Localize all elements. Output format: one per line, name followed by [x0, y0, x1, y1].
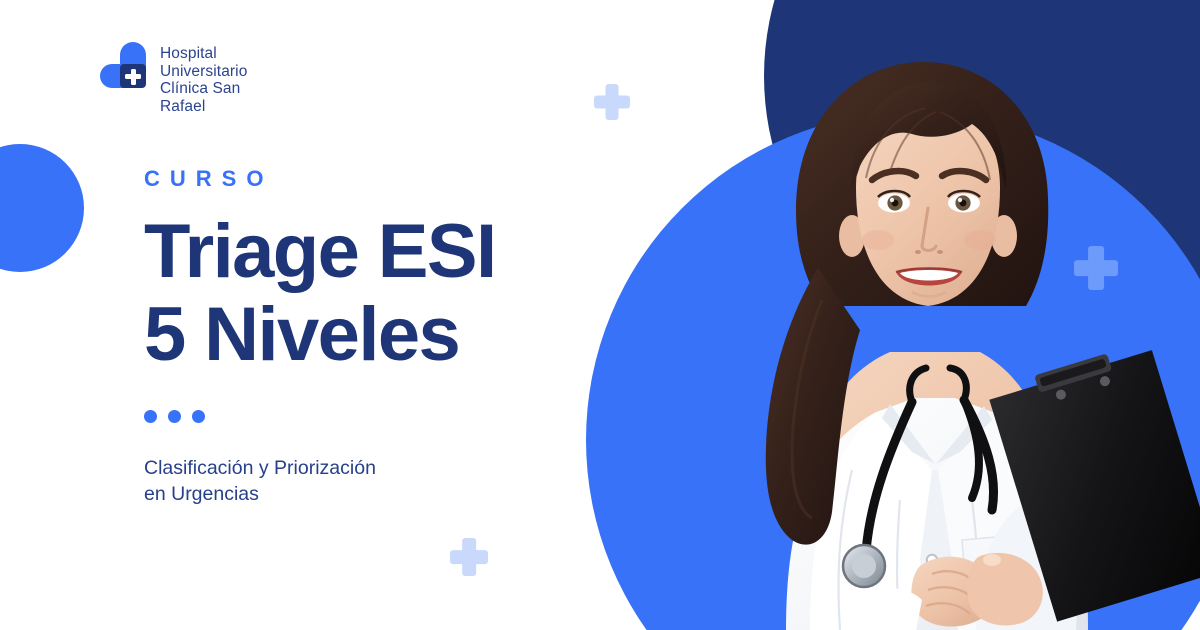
dot-separator — [144, 410, 564, 423]
brand-logo[interactable]: Hospital Universitario Clínica San Rafae… — [100, 42, 247, 115]
promo-banner: Hospital Universitario Clínica San Rafae… — [0, 0, 1200, 630]
eyebrow-label: CURSO — [144, 164, 564, 194]
heart-medical-cross-logo-icon — [100, 42, 146, 88]
doctor-photo — [560, 0, 1200, 630]
subtitle-text: Clasificación y Priorización en Urgencia… — [144, 455, 564, 507]
brand-name: Hospital Universitario Clínica San Rafae… — [160, 42, 247, 115]
plus-icon — [450, 538, 488, 576]
page-title: Triage ESI 5 Niveles — [144, 210, 564, 376]
blue-circle-shape-left — [0, 144, 84, 272]
content-block: CURSO Triage ESI 5 Niveles Clasificación… — [144, 164, 564, 507]
